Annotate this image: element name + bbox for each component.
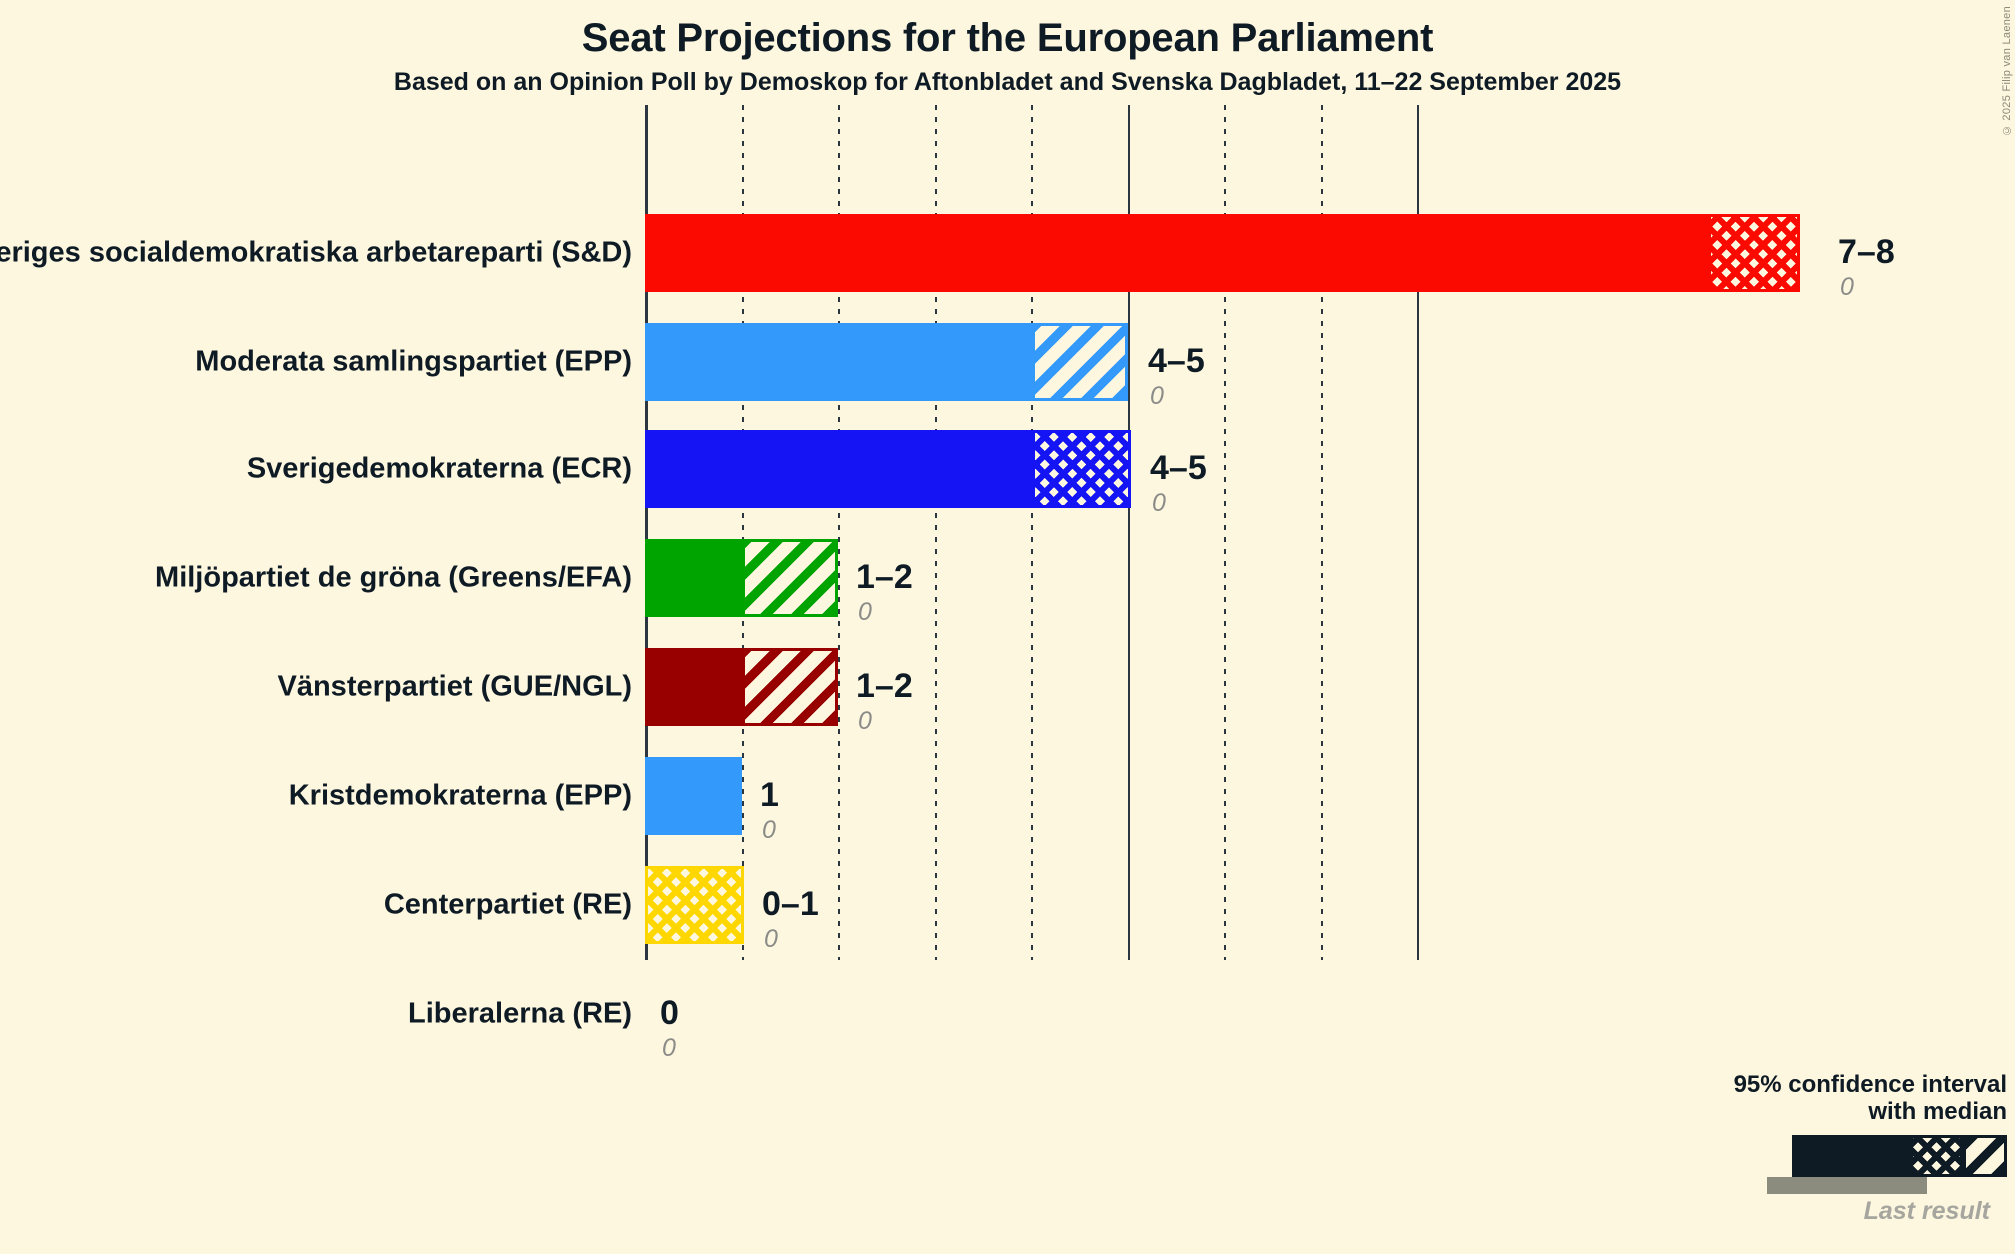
- party-label: Moderata samlingspartiet (EPP): [195, 348, 632, 377]
- bar-row: Vänsterpartiet (GUE/NGL)1–20: [645, 648, 2015, 726]
- legend-segment-solid: [1792, 1135, 1910, 1177]
- value-label: 1–2: [856, 560, 913, 594]
- bar: [645, 757, 742, 835]
- bar-row: Kristdemokraterna (EPP)10: [645, 757, 2015, 835]
- last-result-value: 0: [764, 927, 778, 952]
- bar-row: Moderata samlingspartiet (EPP)4–50: [645, 323, 2015, 401]
- bar-row: Liberalerna (RE)00: [645, 975, 2015, 1053]
- party-label: Kristdemokraterna (EPP): [289, 782, 632, 811]
- party-label: Miljöpartiet de gröna (Greens/EFA): [155, 564, 632, 593]
- page-title: Seat Projections for the European Parlia…: [0, 16, 2015, 61]
- legend-sample-bar: [1792, 1135, 2007, 1177]
- last-result-value: 0: [762, 818, 776, 843]
- value-label: 0–1: [762, 887, 819, 921]
- last-result-value: 0: [1152, 491, 1166, 516]
- bar-segment-confidence-cross: [645, 866, 744, 944]
- bar-row: Sveriges socialdemokratiska arbetarepart…: [645, 214, 2015, 292]
- bar: [645, 323, 1128, 401]
- party-label: Centerpartiet (RE): [384, 891, 632, 920]
- bar-segment-median: [645, 214, 1708, 292]
- party-label: Liberalerna (RE): [408, 1000, 632, 1029]
- last-result-value: 0: [1840, 275, 1854, 300]
- chart-canvas: Seat Projections for the European Parlia…: [0, 0, 2015, 1254]
- value-label: 4–5: [1150, 451, 1207, 485]
- legend-segment-crosshatch: [1910, 1135, 1963, 1177]
- bar-segment-confidence-diag: [742, 648, 838, 726]
- legend-title: 95% confidence interval with median: [1587, 1072, 2007, 1126]
- bar: [645, 430, 1131, 508]
- bar-row: Sverigedemokraterna (ECR)4–50: [645, 430, 2015, 508]
- value-label: 1: [760, 778, 779, 812]
- last-result-value: 0: [858, 709, 872, 734]
- bar-row: Centerpartiet (RE)0–10: [645, 866, 2015, 944]
- legend-last-result-label: Last result: [1587, 1197, 1990, 1226]
- bar-row: Miljöpartiet de gröna (Greens/EFA)1–20: [645, 539, 2015, 617]
- bar: [645, 214, 1800, 292]
- bar: [645, 866, 744, 944]
- bar-segment-median: [645, 757, 742, 835]
- value-label: 7–8: [1838, 235, 1895, 269]
- value-label: 0: [660, 996, 679, 1030]
- last-result-value: 0: [1150, 384, 1164, 409]
- bar: [645, 539, 838, 617]
- bar-segment-median: [645, 648, 742, 726]
- bar-segment-median: [645, 539, 742, 617]
- chart-subtitle: Based on an Opinion Poll by Demoskop for…: [0, 68, 2015, 97]
- bar-segment-confidence-cross: [1708, 214, 1800, 292]
- last-result-value: 0: [858, 600, 872, 625]
- legend-segment-diagonal: [1963, 1135, 2007, 1177]
- last-result-value: 0: [662, 1036, 676, 1061]
- value-label: 1–2: [856, 669, 913, 703]
- legend: 95% confidence interval with median Last…: [1587, 1072, 2007, 1226]
- party-label: Vänsterpartiet (GUE/NGL): [278, 673, 633, 702]
- bar-segment-median: [645, 323, 1032, 401]
- party-label: Sverigedemokraterna (ECR): [247, 455, 632, 484]
- value-label: 4–5: [1148, 344, 1205, 378]
- bar-segment-confidence-diag: [742, 539, 838, 617]
- bar-segment-median: [645, 430, 1032, 508]
- legend-last-result-bar: [1767, 1177, 1927, 1194]
- bar: [645, 648, 838, 726]
- party-label: Sveriges socialdemokratiska arbetarepart…: [0, 239, 632, 268]
- plot-area: Sveriges socialdemokratiska arbetarepart…: [645, 105, 2015, 1145]
- bar-segment-confidence-diag: [1032, 323, 1128, 401]
- bar-segment-confidence-cross: [1032, 430, 1131, 508]
